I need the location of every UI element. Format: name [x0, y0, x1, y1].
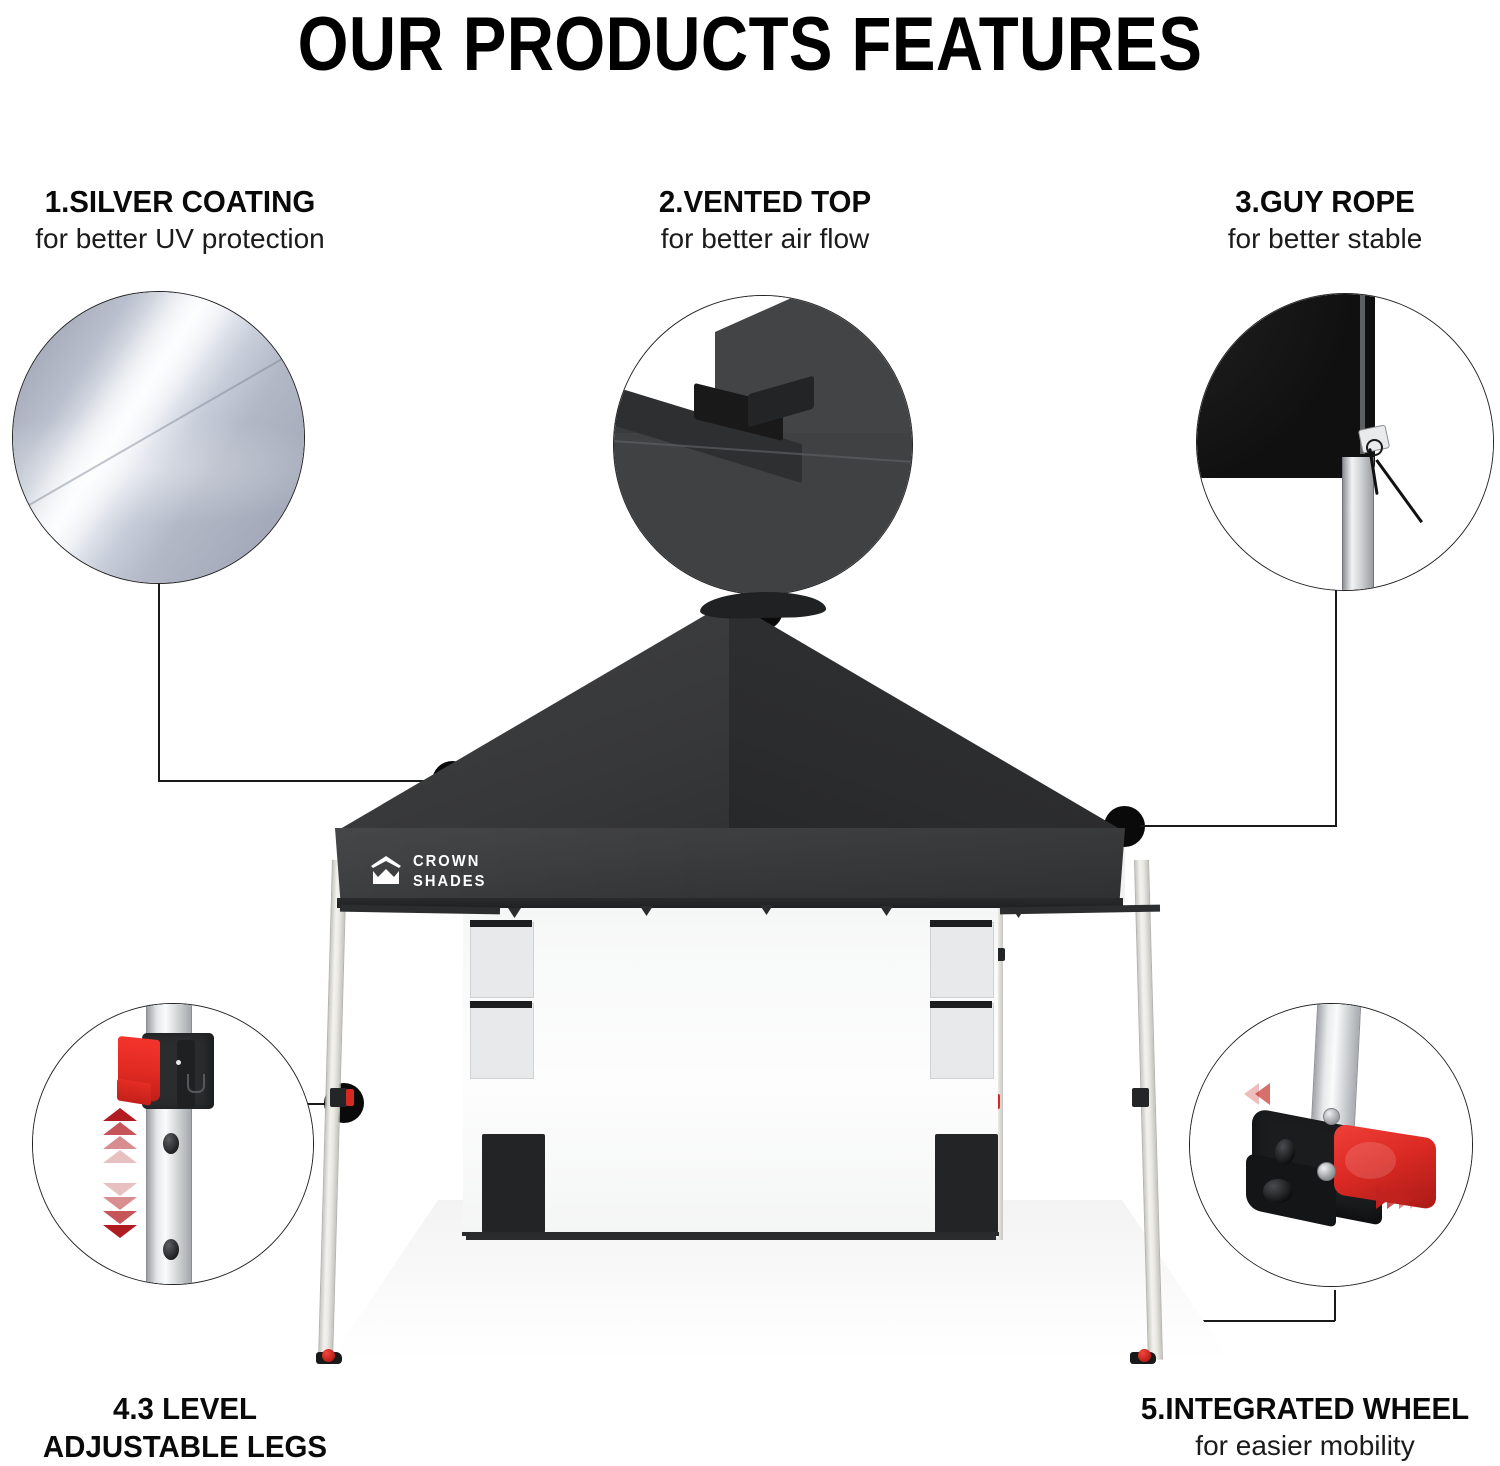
sidewall-weight-bag-right — [935, 1134, 998, 1234]
brand-logo-text: CROWN SHADES — [413, 854, 493, 890]
feature-detail-circle-1 — [12, 291, 305, 584]
canopy-roof-left-panel — [335, 600, 731, 832]
sidewall-pocket-left-lower — [470, 1003, 534, 1079]
feature-label-5: 5.INTEGRATED WHEEL for easier mobility — [1110, 1390, 1500, 1464]
feature-label-1: 1.SILVER COATING for better UV protectio… — [0, 183, 360, 257]
feature-2-title: 2.VENTED TOP — [585, 183, 946, 221]
front-right-leg-lock — [1132, 1088, 1149, 1107]
feature-4-title-line2: ADJUSTABLE LEGS — [9, 1428, 361, 1466]
feature-1-subtitle: for better UV protection — [0, 221, 360, 257]
front-left-leg-release-tab — [346, 1089, 354, 1106]
brand-line-2: SHADES — [413, 874, 486, 890]
front-left-wheel — [322, 1349, 335, 1362]
page-title: OUR PRODUCTS FEATURES — [105, 2, 1395, 88]
feature-label-2: 2.VENTED TOP for better air flow — [575, 183, 955, 257]
canopy-corner-fabric — [1196, 293, 1375, 478]
brand-line-1: CROWN — [413, 854, 486, 870]
sidewall-weight-bag-left — [482, 1134, 545, 1234]
feature-detail-circle-2 — [613, 295, 913, 595]
canopy-roof-right-panel — [729, 600, 1125, 832]
canopy-peak-cap — [700, 591, 826, 619]
brand-logo: CROWN SHADES — [368, 854, 493, 890]
feature-label-3: 3.GUY ROPE for better stable — [1150, 183, 1500, 257]
front-left-leg — [318, 860, 347, 1360]
feature-2-subtitle: for better air flow — [575, 221, 955, 257]
frame-rail-left — [340, 905, 500, 915]
feature-1-title: 1.SILVER COATING — [9, 183, 351, 221]
feature-3-title: 3.GUY ROPE — [1159, 183, 1492, 221]
feature-3-subtitle: for better stable — [1150, 221, 1500, 257]
feature-detail-circle-3 — [1196, 293, 1494, 591]
front-right-wheel — [1138, 1349, 1151, 1362]
canopy-product-illustration: CROWN SHADES — [0, 560, 1500, 1400]
sidewall-pocket-right-upper — [930, 922, 994, 998]
feature-5-subtitle: for easier mobility — [1110, 1428, 1500, 1464]
sidewall-pocket-right-lower-bar — [930, 1001, 992, 1008]
base-rail — [466, 1236, 996, 1240]
infographic-canvas: OUR PRODUCTS FEATURES 1.SILVER COATING f… — [0, 0, 1500, 1452]
sidewall-pocket-left-lower-bar — [470, 1001, 532, 1008]
feature-label-4: 4.3 LEVEL ADJUSTABLE LEGS — [0, 1390, 370, 1466]
sidewall-pocket-left-upper-bar — [470, 920, 532, 927]
front-left-leg-lock — [330, 1088, 347, 1107]
sidewall-pocket-left-upper — [470, 922, 534, 998]
sidewall-pocket-right-upper-bar — [930, 920, 992, 927]
sidewall-pocket-right-lower — [930, 1003, 994, 1079]
crown-icon — [368, 855, 404, 889]
